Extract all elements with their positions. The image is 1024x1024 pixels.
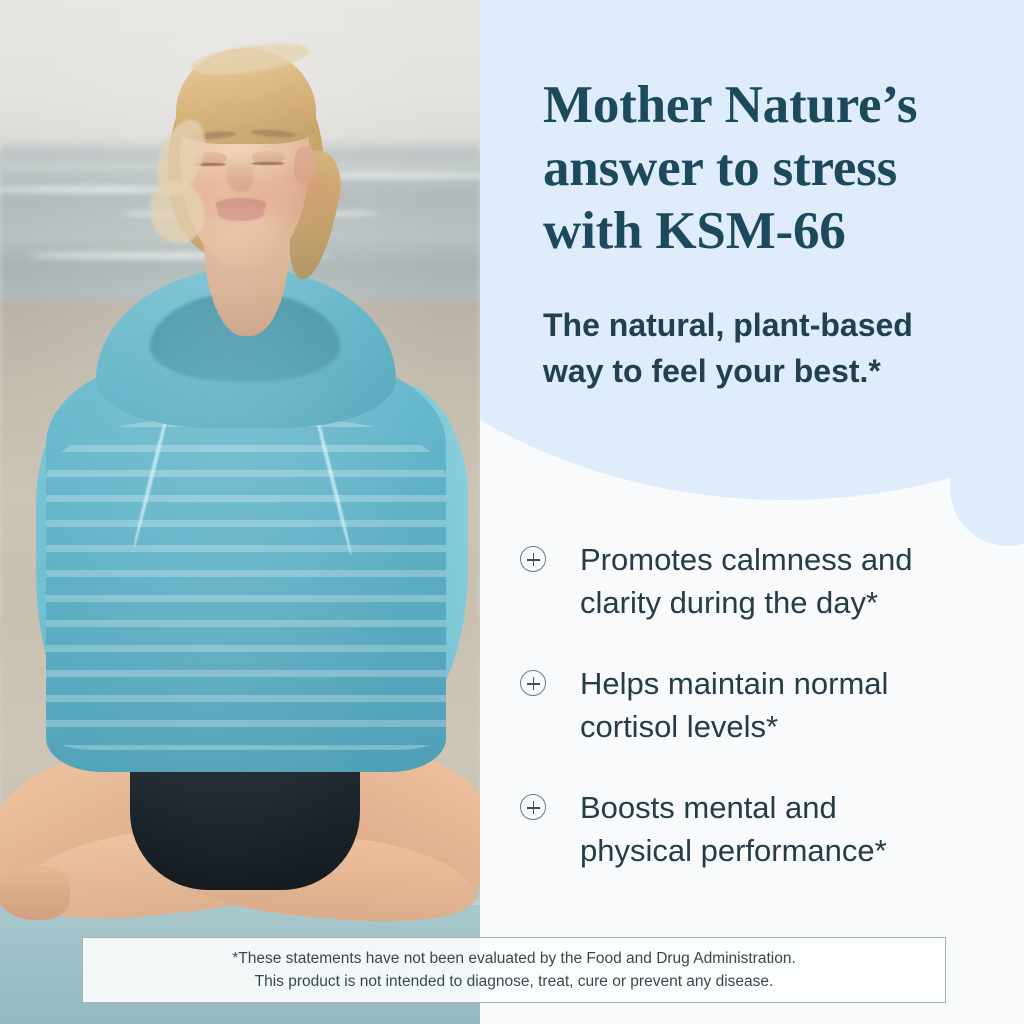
- benefit-label: Boosts mental and physical performance*: [580, 786, 950, 872]
- subtitle-line-2: way to feel your best.*: [543, 353, 881, 389]
- photo-figure: [0, 0, 480, 1024]
- benefit-label: Promotes calmness and clarity during the…: [580, 538, 950, 624]
- hero-photo: [0, 0, 480, 1024]
- figure-foot: [0, 866, 70, 920]
- page-title: Mother Nature’s answer to stress with KS…: [543, 74, 1003, 263]
- headline-line-3-prefix: with: [543, 202, 655, 260]
- headline-line-2: answer to stress: [543, 139, 897, 197]
- brand-name-ksm66: KSM-66: [655, 202, 845, 260]
- benefits-list: Promotes calmness and clarity during the…: [520, 538, 1000, 872]
- list-item: Promotes calmness and clarity during the…: [520, 538, 1000, 624]
- plus-circle-icon: [520, 546, 546, 572]
- figure-shirt-stripes: [46, 420, 446, 750]
- disclaimer-line-1: *These statements have not been evaluate…: [232, 947, 796, 970]
- list-item: Boosts mental and physical performance*: [520, 786, 1000, 872]
- figure-cheek-right: [248, 166, 338, 220]
- figure-lash-right: [252, 162, 284, 165]
- list-item: Helps maintain normal cortisol levels*: [520, 662, 1000, 748]
- benefit-label: Helps maintain normal cortisol levels*: [580, 662, 950, 748]
- content-panel: Mother Nature’s answer to stress with KS…: [480, 0, 1024, 1024]
- fda-disclaimer: *These statements have not been evaluate…: [82, 937, 946, 1003]
- disclaimer-line-2: This product is not intended to diagnose…: [255, 970, 774, 993]
- plus-circle-icon: [520, 670, 546, 696]
- subtitle: The natural, plant-based way to feel you…: [543, 302, 963, 394]
- headline-line-1: Mother Nature’s: [543, 76, 917, 134]
- banner-canvas: Mother Nature’s answer to stress with KS…: [0, 0, 1024, 1024]
- plus-circle-icon: [520, 794, 546, 820]
- subtitle-line-1: The natural, plant-based: [543, 307, 913, 343]
